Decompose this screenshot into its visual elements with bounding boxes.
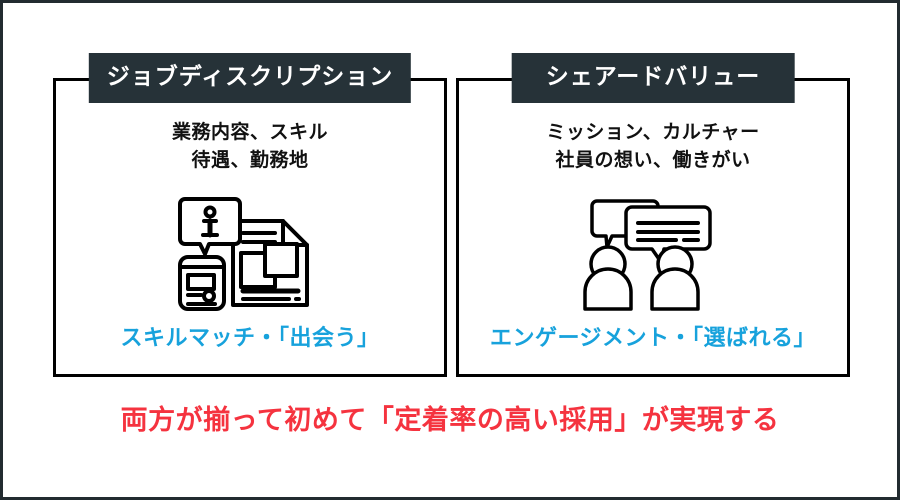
document-phone-info-icon <box>165 191 335 311</box>
panel-caption-shared-value: エンゲージメント・「選ばれる」 <box>459 328 847 350</box>
panel-figure-job-description <box>56 191 444 311</box>
panel-figure-shared-value <box>459 191 847 311</box>
panel-body-line-2: 待遇、勤務地 <box>56 147 444 175</box>
panel-body-line-1: ミッション、カルチャー <box>459 119 847 147</box>
two-people-conversation-icon <box>568 191 738 311</box>
panel-body-shared-value: ミッション、カルチャー 社員の想い、働きがい <box>459 119 847 174</box>
panel-body-line-2: 社員の想い、働きがい <box>459 147 847 175</box>
panel-body-line-1: 業務内容、スキル <box>56 119 444 147</box>
panel-header-shared-value: シェアードバリュー <box>512 53 795 103</box>
panel-shared-value: シェアードバリュー ミッション、カルチャー 社員の想い、働きがい <box>456 78 850 377</box>
conclusion-text: 両方が揃って初めて「定着率の高い採用」が実現する <box>3 407 897 434</box>
panel-caption-job-description: スキルマッチ・「出会う」 <box>56 328 444 350</box>
panel-body-job-description: 業務内容、スキル 待遇、勤務地 <box>56 119 444 174</box>
infographic-canvas: ジョブディスクリプション 業務内容、スキル 待遇、勤務地 <box>0 0 900 500</box>
panel-job-description: ジョブディスクリプション 業務内容、スキル 待遇、勤務地 <box>53 78 447 377</box>
panel-header-job-description: ジョブディスクリプション <box>89 53 411 103</box>
